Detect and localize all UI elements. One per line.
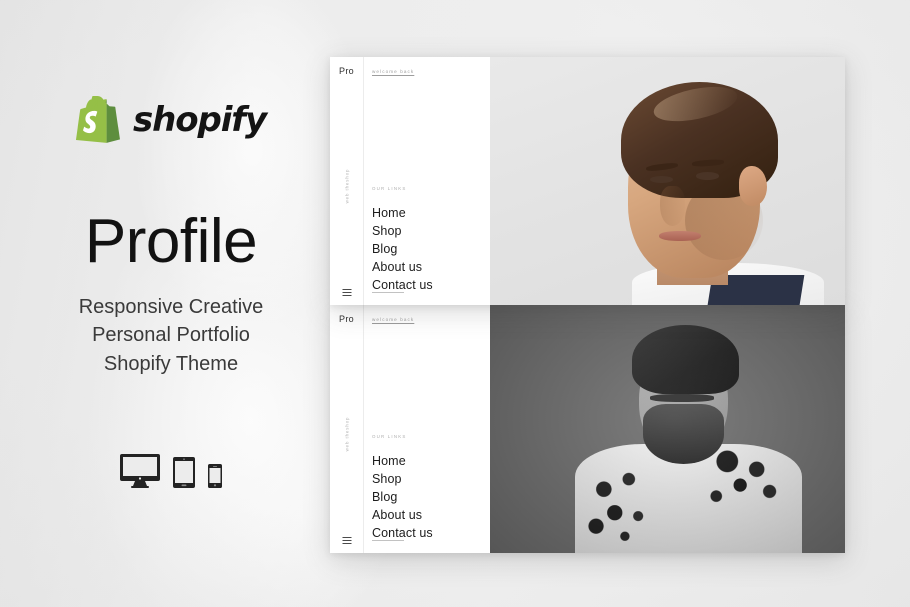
sidebar-rail-bottom: Pro web theshop [330,305,364,553]
nav-link-list-bottom: Home Shop Blog About us Contact us [372,452,433,542]
links-heading-top: our links [372,186,406,191]
welcome-text-bottom: welcome back [372,317,490,322]
nav-link-list-top: Home Shop Blog About us Contact us [372,204,433,294]
hero-photo-slicked-hair-man [490,57,845,305]
links-heading-bottom: our links [372,434,406,439]
nav-link-shop[interactable]: Shop [372,222,433,240]
nav-panel-bottom: welcome back our links Home Shop Blog Ab… [364,305,490,553]
rail-logo-bottom[interactable]: Pro [330,314,363,324]
brand-name: shopify [133,100,266,140]
mobile-phone-icon [208,464,222,488]
hamburger-menu-icon[interactable] [342,537,351,544]
subtitle-line-3: Shopify Theme [79,350,264,378]
rail-vertical-text-bottom: web theshop [344,417,349,452]
browser-mockup-top[interactable]: Pro web theshop welcome back our links H… [330,57,845,305]
photo-shadow-overlay [490,305,845,553]
marketing-column: shopify Profile Responsive Creative Pers… [0,0,342,607]
photo-nose [660,186,685,226]
rail-vertical-text-top: web theshop [344,169,349,204]
shopify-bag-icon [76,96,120,143]
page-title: Profile [85,211,257,273]
device-compatibility-icons [120,454,222,488]
photo-eye-right [696,172,719,179]
browser-mockup-bottom[interactable]: Pro web theshop welcome back our links H… [330,305,845,553]
photo-lips [659,231,702,241]
nav-link-home[interactable]: Home [372,204,433,222]
nav-panel-top: welcome back our links Home Shop Blog Ab… [364,57,490,305]
nav-link-about-us[interactable]: About us [372,258,433,276]
nav-link-about-us[interactable]: About us [372,506,433,524]
tablet-icon [173,457,195,488]
hamburger-menu-icon[interactable] [342,289,351,296]
nav-link-home[interactable]: Home [372,452,433,470]
nav-link-blog[interactable]: Blog [372,240,433,258]
sidebar-rail-top: Pro web theshop [330,57,364,305]
subtitle-line-1: Responsive Creative [79,293,264,321]
desktop-monitor-icon [120,454,160,488]
rail-logo-top[interactable]: Pro [330,66,363,76]
nav-link-blog[interactable]: Blog [372,488,433,506]
welcome-text-top: welcome back [372,69,490,74]
brand-lockup: shopify [76,96,266,143]
hero-photo-bearded-man [490,305,845,553]
photo-ear [739,166,767,206]
page-subtitle: Responsive Creative Personal Portfolio S… [79,293,264,378]
nav-link-shop[interactable]: Shop [372,470,433,488]
subtitle-line-2: Personal Portfolio [79,321,264,349]
nav-divider-top [372,292,404,293]
nav-divider-bottom [372,540,404,541]
